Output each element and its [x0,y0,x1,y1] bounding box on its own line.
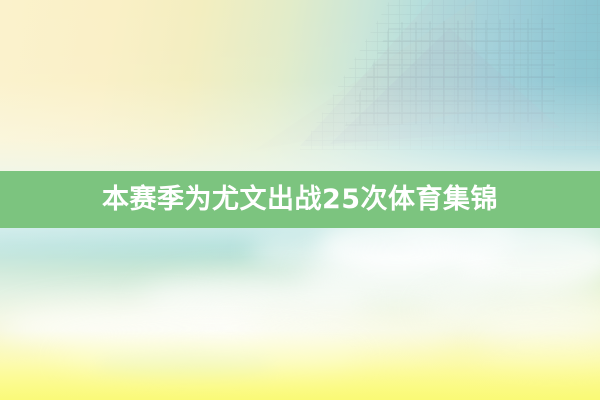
headline-banner: 本赛季为尤文出战25次体育集锦 [0,171,600,228]
sky-background [0,228,600,400]
banner-image: 本赛季为尤文出战25次体育集锦 [0,0,600,400]
sky-haze-band [0,228,600,258]
sky-bottom-wash [0,330,600,400]
headline-title: 本赛季为尤文出战25次体育集锦 [102,186,498,213]
top-gradient-fade-overlay [0,0,600,180]
